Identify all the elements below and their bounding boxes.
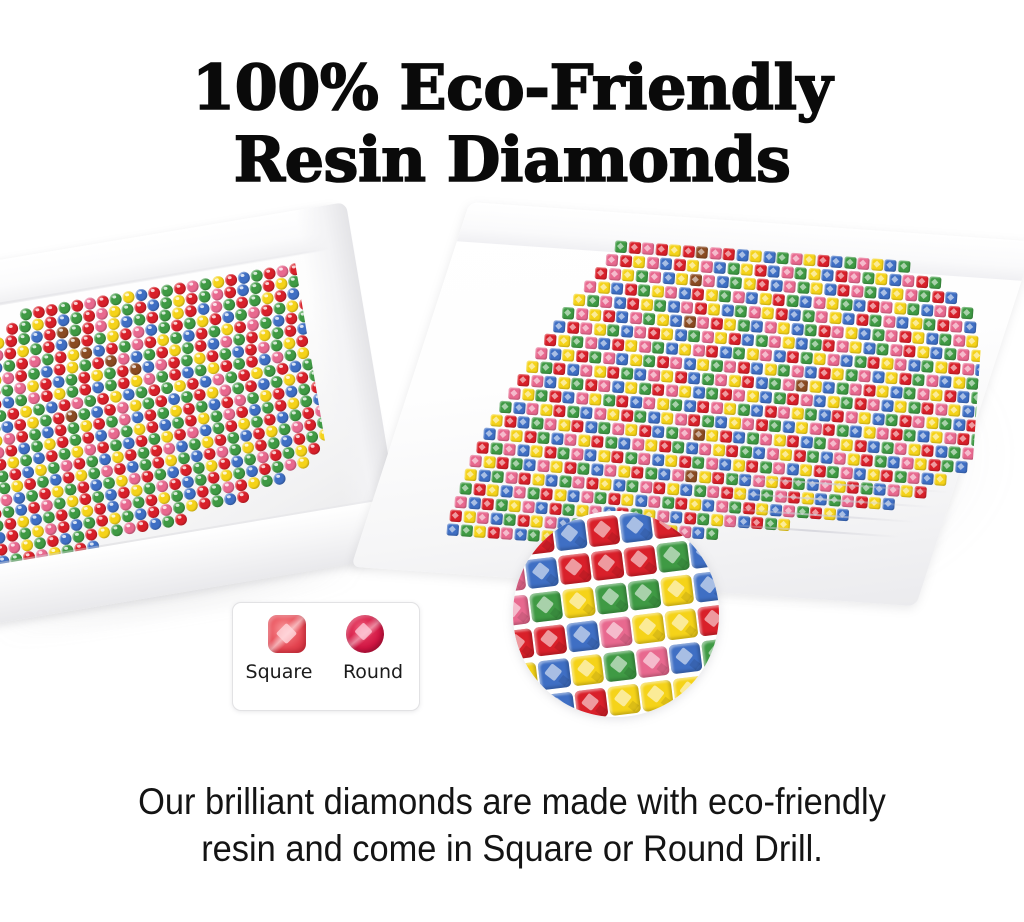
drill (634, 410, 647, 423)
drill (719, 458, 732, 471)
drill (549, 511, 583, 518)
drill (781, 266, 794, 279)
drill (574, 688, 608, 717)
drill (764, 405, 777, 418)
drill (867, 468, 880, 481)
drill (729, 276, 742, 289)
drill (713, 261, 726, 274)
drill (586, 515, 620, 548)
drill (732, 389, 745, 402)
drill (872, 413, 885, 426)
drill (597, 450, 610, 463)
drill (806, 450, 819, 463)
drill (935, 445, 948, 458)
drill (899, 415, 912, 428)
drill (821, 269, 834, 282)
drill (612, 479, 625, 492)
drill (563, 461, 576, 474)
drill (510, 430, 523, 443)
drill (934, 305, 947, 318)
drill (665, 426, 678, 439)
drill (856, 313, 869, 326)
drill (603, 650, 637, 683)
drill (948, 362, 961, 375)
drill (822, 423, 835, 436)
drill (741, 376, 754, 389)
drill (737, 361, 750, 374)
drill (800, 394, 813, 407)
drill (174, 513, 188, 527)
drill (553, 320, 566, 333)
drill (800, 436, 813, 449)
drill (487, 526, 500, 539)
drill (566, 363, 579, 376)
drill (782, 336, 795, 349)
magnified-drill-field (513, 511, 719, 717)
drill (611, 423, 624, 436)
drill (643, 355, 656, 368)
drill (638, 340, 651, 353)
drill (97, 525, 111, 539)
drill (550, 460, 563, 473)
drill (929, 276, 942, 289)
drill (513, 628, 535, 661)
drill (957, 391, 970, 404)
drill (594, 492, 607, 505)
drill (701, 415, 714, 428)
drill (582, 511, 616, 514)
drill (824, 283, 837, 296)
drill (496, 457, 509, 470)
drill (809, 380, 822, 393)
drill (620, 325, 633, 338)
drill (907, 359, 920, 372)
drill (727, 262, 740, 275)
drill (598, 337, 611, 350)
drill (939, 375, 952, 388)
drill (571, 378, 584, 391)
drill (607, 492, 620, 505)
drill (813, 437, 826, 450)
drill (695, 246, 708, 259)
drill (236, 490, 250, 504)
drill (500, 485, 513, 498)
drill (813, 395, 826, 408)
drill (618, 437, 631, 450)
drill (961, 307, 974, 320)
drill (945, 291, 958, 304)
drill (621, 493, 634, 506)
drill (917, 430, 930, 443)
drill (909, 317, 922, 330)
drill (623, 545, 657, 578)
drill (772, 462, 785, 475)
drill (943, 390, 956, 403)
drill (625, 424, 638, 437)
drill (658, 468, 671, 481)
drill (517, 511, 551, 522)
drill (486, 484, 499, 497)
square-gem-icon (268, 615, 306, 653)
drill (925, 374, 938, 387)
drill (620, 367, 633, 380)
drill (916, 388, 929, 401)
drill (930, 431, 943, 444)
drill (513, 561, 526, 594)
drill (572, 476, 585, 489)
drill (497, 429, 510, 442)
drill (593, 323, 606, 336)
drill (746, 348, 759, 361)
drill (691, 288, 704, 301)
drill (638, 452, 651, 465)
drill (260, 474, 274, 488)
drill (638, 424, 651, 437)
drill (643, 312, 656, 325)
drill (656, 398, 669, 411)
drill (786, 294, 799, 307)
drill (636, 646, 670, 679)
drill (521, 388, 534, 401)
drill (533, 624, 567, 657)
drill (934, 473, 947, 486)
drill (876, 343, 889, 356)
drill (653, 482, 666, 495)
drill (934, 361, 947, 374)
drill (779, 448, 792, 461)
drill (469, 455, 482, 468)
drill (795, 421, 808, 434)
drill (624, 452, 637, 465)
drill (647, 327, 660, 340)
drill (840, 439, 853, 452)
drill (734, 305, 747, 318)
drill (683, 357, 696, 370)
drill (903, 429, 916, 442)
drill (715, 416, 728, 429)
drill (593, 407, 606, 420)
drill (849, 341, 862, 354)
drill (759, 293, 772, 306)
drill (728, 417, 741, 430)
drill (591, 435, 604, 448)
drill (539, 404, 552, 417)
product-infographic: 100% Eco-Friendly Resin Diamonds Square … (0, 0, 1024, 922)
drill (688, 414, 701, 427)
drill (679, 385, 692, 398)
drill (826, 466, 839, 479)
drill (845, 369, 858, 382)
drill (602, 310, 615, 323)
drill (553, 362, 566, 375)
drill (602, 352, 615, 365)
drill (818, 367, 831, 380)
drill (625, 339, 638, 352)
drill (664, 286, 677, 299)
drill (564, 433, 577, 446)
drill (161, 515, 175, 529)
drill (764, 363, 777, 376)
drill (870, 258, 883, 271)
drill (678, 455, 691, 468)
drill (943, 432, 956, 445)
drill (307, 442, 321, 456)
drill (665, 454, 678, 467)
drill (890, 428, 903, 441)
drill (737, 319, 750, 332)
drill (449, 509, 462, 522)
drill (712, 444, 725, 457)
drill (535, 389, 548, 402)
drill (590, 463, 603, 476)
drill (804, 408, 817, 421)
drill (755, 376, 768, 389)
drill (570, 448, 583, 461)
drill (692, 456, 705, 469)
drill (827, 396, 840, 409)
drill (791, 407, 804, 420)
drill (925, 416, 938, 429)
drill (759, 391, 772, 404)
drill (535, 347, 548, 360)
drill (858, 370, 871, 383)
drill (763, 251, 776, 264)
drill (848, 271, 861, 284)
drill (548, 348, 561, 361)
drill (672, 441, 685, 454)
drill (770, 279, 783, 292)
drill (567, 490, 580, 503)
drill (764, 321, 777, 334)
drill (566, 405, 579, 418)
drill (537, 658, 571, 691)
drill (786, 435, 799, 448)
drill (829, 311, 842, 324)
drill (685, 442, 698, 455)
drill (767, 265, 780, 278)
drill (749, 250, 762, 263)
drill (513, 402, 526, 415)
drill (662, 272, 675, 285)
drill (600, 295, 613, 308)
drill (557, 335, 570, 348)
drill (750, 362, 763, 375)
drill (697, 400, 710, 413)
drill (775, 308, 788, 321)
drill (837, 284, 850, 297)
drill (912, 373, 925, 386)
drill (739, 446, 752, 459)
drill (745, 292, 758, 305)
drill (736, 249, 749, 262)
drill (813, 352, 826, 365)
drill (640, 298, 653, 311)
drill (831, 326, 844, 339)
drill (598, 380, 611, 393)
drill (701, 331, 714, 344)
drill (148, 517, 162, 531)
drill (483, 428, 496, 441)
drill (950, 320, 963, 333)
drill (791, 365, 804, 378)
drill (606, 254, 619, 267)
drill (635, 270, 648, 283)
drill (888, 274, 901, 287)
drill (786, 393, 799, 406)
drill (705, 457, 718, 470)
drill (656, 313, 669, 326)
drill (871, 328, 884, 341)
drill (723, 318, 736, 331)
drill (732, 347, 745, 360)
drill (737, 403, 750, 416)
drill (880, 301, 893, 314)
drill (599, 478, 612, 491)
drill (746, 460, 759, 473)
drill (575, 392, 588, 405)
drill (619, 511, 653, 543)
drill (750, 320, 763, 333)
drill (718, 290, 731, 303)
drill (773, 392, 786, 405)
drill (908, 401, 921, 414)
drill (768, 377, 781, 390)
drill (460, 524, 473, 537)
drill (575, 308, 588, 321)
drill (652, 383, 665, 396)
drill (903, 345, 916, 358)
drill (743, 277, 756, 290)
caption-line-1: Our brilliant diamonds are made with eco… (36, 778, 988, 825)
drill (833, 452, 846, 465)
drill (611, 451, 624, 464)
drill (746, 432, 759, 445)
drill (894, 358, 907, 371)
drill (674, 329, 687, 342)
drill (874, 455, 887, 468)
tray-groove (706, 490, 934, 508)
drill (646, 257, 659, 270)
drill (530, 445, 543, 458)
drill (948, 446, 961, 459)
drill (936, 319, 949, 332)
drill (719, 388, 732, 401)
drill (850, 285, 863, 298)
drill (611, 282, 624, 295)
drill (674, 413, 687, 426)
drill (508, 387, 521, 400)
drill (867, 440, 880, 453)
drill (504, 415, 517, 428)
drill (521, 523, 555, 556)
drill (755, 419, 768, 432)
drill (799, 464, 812, 477)
drill (669, 314, 682, 327)
drill (912, 331, 925, 344)
drill (619, 255, 632, 268)
drill (537, 431, 550, 444)
drill (584, 421, 597, 434)
drill (589, 393, 602, 406)
drill (553, 404, 566, 417)
drill (957, 348, 970, 361)
drill (705, 345, 718, 358)
drill (680, 483, 693, 496)
drill (834, 270, 847, 283)
drill (891, 288, 904, 301)
drill (629, 354, 642, 367)
drill (793, 449, 806, 462)
drill (589, 351, 602, 364)
drill (831, 410, 844, 423)
drill (584, 379, 597, 392)
drill (580, 322, 593, 335)
drill (898, 330, 911, 343)
drill (728, 332, 741, 345)
drill (943, 348, 956, 361)
drill (866, 300, 879, 313)
drill (817, 254, 830, 267)
drill (503, 443, 516, 456)
drill (638, 382, 651, 395)
drill (854, 355, 867, 368)
drill (861, 272, 874, 285)
drill (647, 411, 660, 424)
drill (645, 439, 658, 452)
drill (210, 494, 224, 508)
drill (961, 363, 974, 376)
drill (706, 429, 719, 442)
drill (273, 472, 287, 486)
drill (795, 379, 808, 392)
drill (875, 273, 888, 286)
drill (491, 470, 504, 483)
drill (666, 483, 679, 496)
drill (808, 268, 821, 281)
drill (783, 280, 796, 293)
drill (537, 459, 550, 472)
drill (665, 384, 678, 397)
drill (761, 307, 774, 320)
drill (893, 302, 906, 315)
drill (748, 306, 761, 319)
drill (849, 383, 862, 396)
drill (490, 442, 503, 455)
drill (481, 498, 494, 511)
drill (629, 312, 642, 325)
drill (768, 420, 781, 433)
drill (641, 242, 654, 255)
drill (557, 377, 570, 390)
drill (652, 511, 686, 539)
drill (530, 375, 543, 388)
legend-label-round: Round (335, 661, 411, 683)
drill (752, 446, 765, 459)
drill (928, 459, 941, 472)
drill (562, 349, 575, 362)
drill (631, 466, 644, 479)
drill (915, 275, 928, 288)
drill (562, 391, 575, 404)
drill (700, 260, 713, 273)
drill (602, 394, 615, 407)
drill (654, 299, 667, 312)
drill (585, 477, 598, 490)
drill (283, 458, 297, 472)
drill (559, 475, 572, 488)
drill (689, 274, 702, 287)
drill (768, 335, 781, 348)
